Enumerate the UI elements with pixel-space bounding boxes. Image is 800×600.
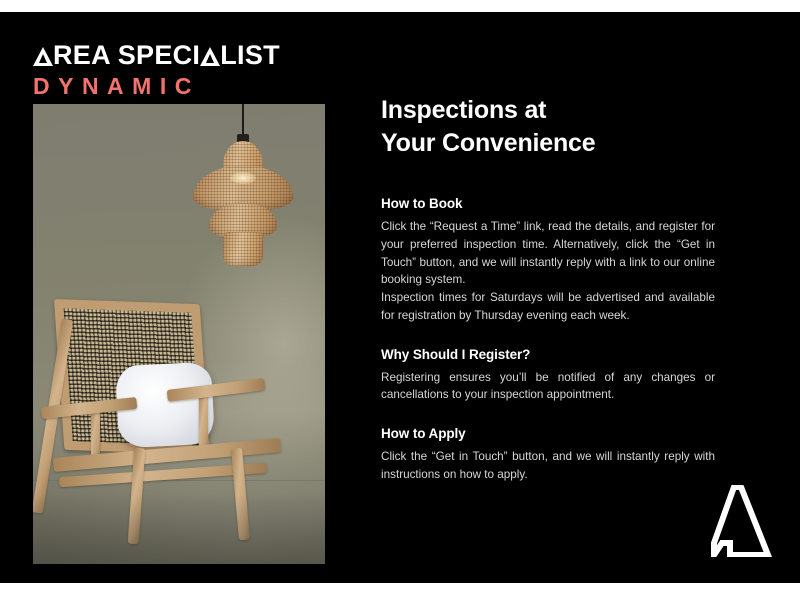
lamp-weave-texture-3 bbox=[223, 232, 263, 266]
section-heading: Why Should I Register? bbox=[381, 347, 715, 362]
slide-black-background: REA SPECILIST DYNAMIC bbox=[0, 12, 800, 583]
chair-arm-post-left bbox=[91, 406, 100, 460]
section-why-register: Why Should I Register? Registering ensur… bbox=[381, 347, 715, 405]
content-column: Inspections at Your Convenience How to B… bbox=[381, 94, 715, 484]
section-heading: How to Book bbox=[381, 196, 715, 211]
triangle-a-monogram-icon bbox=[710, 485, 772, 557]
brand-name-primary-suffix: LIST bbox=[220, 40, 280, 70]
section-paragraph: Registering ensures you’ll be notified o… bbox=[381, 369, 715, 405]
triangle-a-monogram-icon-2 bbox=[200, 46, 220, 66]
section-paragraph-2: Inspection times for Saturdays will be a… bbox=[381, 289, 715, 325]
photo-floor-shadow bbox=[33, 494, 325, 564]
section-heading: How to Apply bbox=[381, 426, 715, 441]
pendant-lamp bbox=[185, 104, 301, 294]
section-paragraph: Click the “Get in Touch” button, and we … bbox=[381, 448, 715, 484]
lamp-cord bbox=[242, 104, 244, 136]
brand-name-secondary: DYNAMIC bbox=[33, 75, 280, 98]
section-paragraph: Click the “Request a Time” link, read th… bbox=[381, 218, 715, 289]
corner-logo-mark bbox=[710, 485, 772, 557]
lamp-shade-tier-3 bbox=[223, 232, 263, 266]
page-title-line-2: Your Convenience bbox=[381, 127, 715, 160]
brand-name-primary-prefix: REA SPECI bbox=[53, 40, 200, 70]
interior-photo bbox=[33, 104, 325, 564]
brand-name-primary: REA SPECILIST bbox=[33, 42, 280, 69]
slide-canvas: REA SPECILIST DYNAMIC bbox=[0, 0, 800, 600]
section-how-to-book: How to Book Click the “Request a Time” l… bbox=[381, 196, 715, 325]
page-title: Inspections at Your Convenience bbox=[381, 94, 715, 160]
page-title-line-1: Inspections at bbox=[381, 94, 715, 127]
triangle-a-monogram-icon bbox=[33, 46, 53, 66]
section-how-to-apply: How to Apply Click the “Get in Touch” bu… bbox=[381, 426, 715, 484]
brand-logo: REA SPECILIST DYNAMIC bbox=[33, 42, 280, 98]
lamp-bulb-glow bbox=[230, 172, 256, 184]
